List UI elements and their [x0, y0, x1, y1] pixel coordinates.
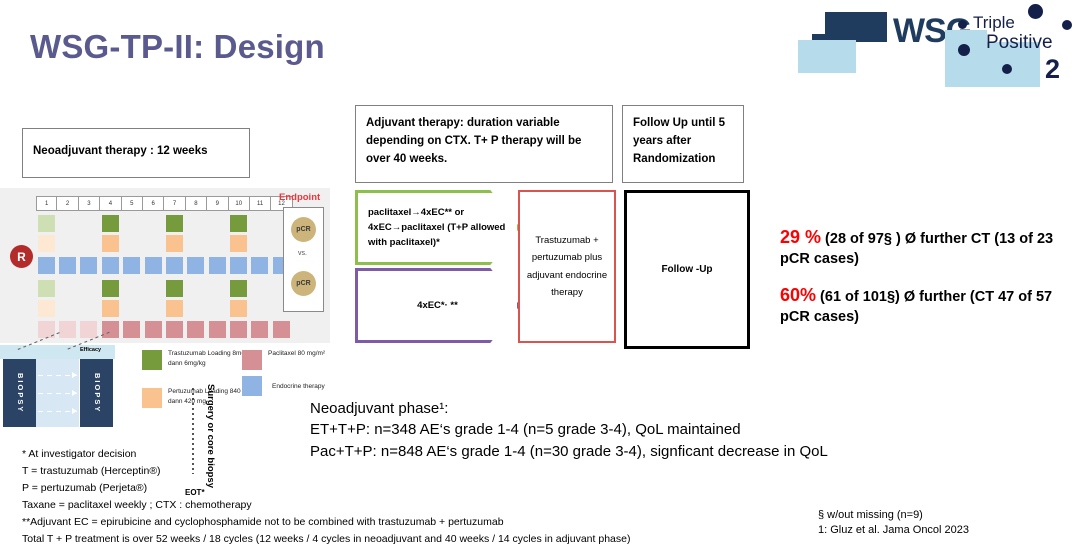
- citations-block: § w/out missing (n=9) 1: Gluz et al. Jam…: [818, 508, 1078, 538]
- week-number-header: 123456789101112: [36, 196, 293, 211]
- schedule-cell-trastuzumab: [230, 215, 247, 232]
- schedule-cell-trastuzumab: [230, 280, 247, 297]
- schedule-cell-endocrine: [102, 257, 119, 274]
- efficacy-label: Efficacy: [80, 347, 101, 353]
- schedule-cell-trastuzumab: [102, 280, 119, 297]
- schedule-cell-endocrine: [166, 257, 183, 274]
- biopsy-column-left: BIOPSY: [3, 359, 36, 427]
- schedule-cell-paclitaxel: [102, 321, 119, 338]
- tp2-dot-1: [958, 20, 967, 29]
- endocrine-swatch: [242, 376, 262, 396]
- schedule-cell-endocrine: [251, 257, 268, 274]
- footnote-line: Taxane = paclitaxel weekly ; CTX : chemo…: [22, 497, 792, 514]
- schedule-cell-pertuzumab: [38, 300, 55, 317]
- footnotes-block: * At investigator decision T = trastuzum…: [22, 446, 792, 548]
- week-number-cell: 2: [57, 196, 78, 211]
- tp2-two-text: 2: [1045, 54, 1060, 85]
- treatment-arm-purple-chevron: 4xEC*· **: [355, 268, 520, 343]
- schedule-cell-paclitaxel: [251, 321, 268, 338]
- week-number-cell: 11: [250, 196, 271, 211]
- schedule-cell-pertuzumab: [38, 235, 55, 252]
- citation-line: § w/out missing (n=9): [818, 508, 1078, 523]
- treatment-arm-green-chevron: paclitaxel→4xEC** or 4xEC→paclitaxel (T+…: [355, 190, 520, 265]
- triple-positive-2-logo: Triple Positive 2: [940, 4, 1075, 84]
- statistic-percent-1: 29 %: [780, 227, 821, 247]
- schedule-cell-pertuzumab: [230, 235, 247, 252]
- citation-line: 1: Gluz et al. Jama Oncol 2023: [818, 523, 1078, 538]
- tp2-dot-2: [1028, 4, 1043, 19]
- pcr-circle-top: pCR: [291, 217, 316, 242]
- week-number-cell: 5: [122, 196, 143, 211]
- statistic-percent-2: 60%: [780, 285, 816, 305]
- biopsy-dashed-arrow: [38, 411, 77, 412]
- treatment-schedule-panel: 123456789101112 Surgery or core biopsy E…: [0, 188, 330, 343]
- schedule-cell-paclitaxel: [166, 321, 183, 338]
- schedule-cell-paclitaxel: [187, 321, 204, 338]
- biopsy-strip: BIOPSY BIOPSY Efficacy: [0, 345, 115, 427]
- footnote-line: Total T + P treatment is over 52 weeks /…: [22, 531, 792, 548]
- schedule-cell-paclitaxel: [80, 321, 97, 338]
- biopsy-right-label: BIOPSY: [91, 373, 102, 413]
- schedule-cell-trastuzumab: [102, 215, 119, 232]
- biopsy-left-label: BIOPSY: [14, 373, 25, 413]
- schedule-cell-endocrine: [230, 257, 247, 274]
- schedule-cell-trastuzumab: [38, 215, 55, 232]
- tp2-triple-text: Triple: [973, 13, 1015, 33]
- paclitaxel-swatch: [242, 350, 262, 370]
- week-number-cell: 7: [164, 196, 185, 211]
- footnote-line: * At investigator decision: [22, 446, 792, 463]
- week-number-cell: 9: [207, 196, 228, 211]
- week-number-cell: 10: [229, 196, 250, 211]
- statistic-detail-1: (28 of 97§ ) Ø further CT (13 of 23 pCR …: [780, 231, 1053, 267]
- week-number-cell: 8: [186, 196, 207, 211]
- biopsy-column-right: BIOPSY: [80, 359, 113, 427]
- statistic-row-1: 29 % (28 of 97§ ) Ø further CT (13 of 23…: [780, 225, 1080, 269]
- schedule-cell-paclitaxel: [59, 321, 76, 338]
- schedule-cell-trastuzumab: [166, 215, 183, 232]
- schedule-cell-pertuzumab: [166, 235, 183, 252]
- schedule-cell-pertuzumab: [166, 300, 183, 317]
- schedule-cell-trastuzumab: [38, 280, 55, 297]
- treatment-arm-green-label: paclitaxel→4xEC** or 4xEC→paclitaxel (T+…: [358, 193, 517, 262]
- treatment-arm-purple-label: 4xEC*· **: [358, 271, 517, 340]
- schedule-cell-pertuzumab: [230, 300, 247, 317]
- biopsy-dashed-arrow: [38, 375, 77, 376]
- schedule-cell-pertuzumab: [102, 235, 119, 252]
- schedule-cell-paclitaxel: [145, 321, 162, 338]
- neoadjuvant-therapy-box: Neoadjuvant therapy : 12 weeks: [22, 128, 250, 178]
- tp2-dot-4: [958, 44, 970, 56]
- schedule-cell-trastuzumab: [166, 280, 183, 297]
- schedule-cell-endocrine: [123, 257, 140, 274]
- statistic-detail-2: (61 of 101§) Ø further (CT 47 of 57 pCR …: [780, 289, 1052, 325]
- week-number-cell: 3: [79, 196, 100, 211]
- follow-up-header-box: Follow Up until 5 years after Randomizat…: [622, 105, 744, 183]
- schedule-cell-endocrine: [187, 257, 204, 274]
- schedule-cell-pertuzumab: [102, 300, 119, 317]
- endpoint-box: pCR vs. pCR: [283, 207, 324, 312]
- pertuzumab-swatch: [142, 388, 162, 408]
- wsg-logo: WSG: [795, 8, 935, 64]
- schedule-cell-endocrine: [209, 257, 226, 274]
- neoadjuvant-phase-line-1: ET+T+P: n=348 AE‘s grade 1-4 (n=5 grade …: [310, 419, 1000, 440]
- week-number-cell: 4: [100, 196, 121, 211]
- trastuzumab-swatch: [142, 350, 162, 370]
- versus-label: vs.: [298, 250, 307, 257]
- endpoint-label: Endpoint: [279, 192, 320, 203]
- week-number-cell: 6: [143, 196, 164, 211]
- page-title: WSG-TP-II: Design: [30, 28, 325, 66]
- schedule-cell-endocrine: [38, 257, 55, 274]
- schedule-cell-paclitaxel: [230, 321, 247, 338]
- week-number-cell: 1: [36, 196, 57, 211]
- tp2-dot-3: [1062, 20, 1072, 30]
- tp2-positive-text: Positive: [986, 32, 1053, 54]
- schedule-cell-paclitaxel: [273, 321, 290, 338]
- trastuzumab-pertuzumab-box: Trastuzumab + pertuzumab plus adjuvant e…: [518, 190, 616, 343]
- schedule-cell-endocrine: [145, 257, 162, 274]
- follow-up-box: Follow -Up: [624, 190, 750, 349]
- footnote-line: P = pertuzumab (Perjeta®): [22, 480, 792, 497]
- wsg-logo-light-square: [798, 40, 856, 73]
- footnote-line: **Adjuvant EC = epirubicine and cyclopho…: [22, 514, 792, 531]
- randomization-marker: R: [10, 245, 33, 268]
- schedule-cell-endocrine: [80, 257, 97, 274]
- biopsy-dashed-arrow: [38, 393, 77, 394]
- adjuvant-therapy-box: Adjuvant therapy: duration variable depe…: [355, 105, 613, 183]
- schedule-cell-paclitaxel: [123, 321, 140, 338]
- tp2-dot-5: [1002, 64, 1012, 74]
- statistic-row-2: 60% (61 of 101§) Ø further (CT 47 of 57 …: [780, 283, 1080, 327]
- legend: Trastuzumab Loading 8mg/kg dann 6mg/kg P…: [142, 348, 332, 408]
- neoadjuvant-phase-heading: Neoadjuvant phase¹:: [310, 398, 1000, 419]
- legend-label: Endocrine therapy: [272, 382, 367, 392]
- schedule-cell-endocrine: [59, 257, 76, 274]
- footnote-line: T = trastuzumab (Herceptin®): [22, 463, 792, 480]
- pcr-circle-bottom: pCR: [291, 271, 316, 296]
- legend-label: Paclitaxel 80 mg/m²: [268, 349, 363, 359]
- schedule-cell-paclitaxel: [209, 321, 226, 338]
